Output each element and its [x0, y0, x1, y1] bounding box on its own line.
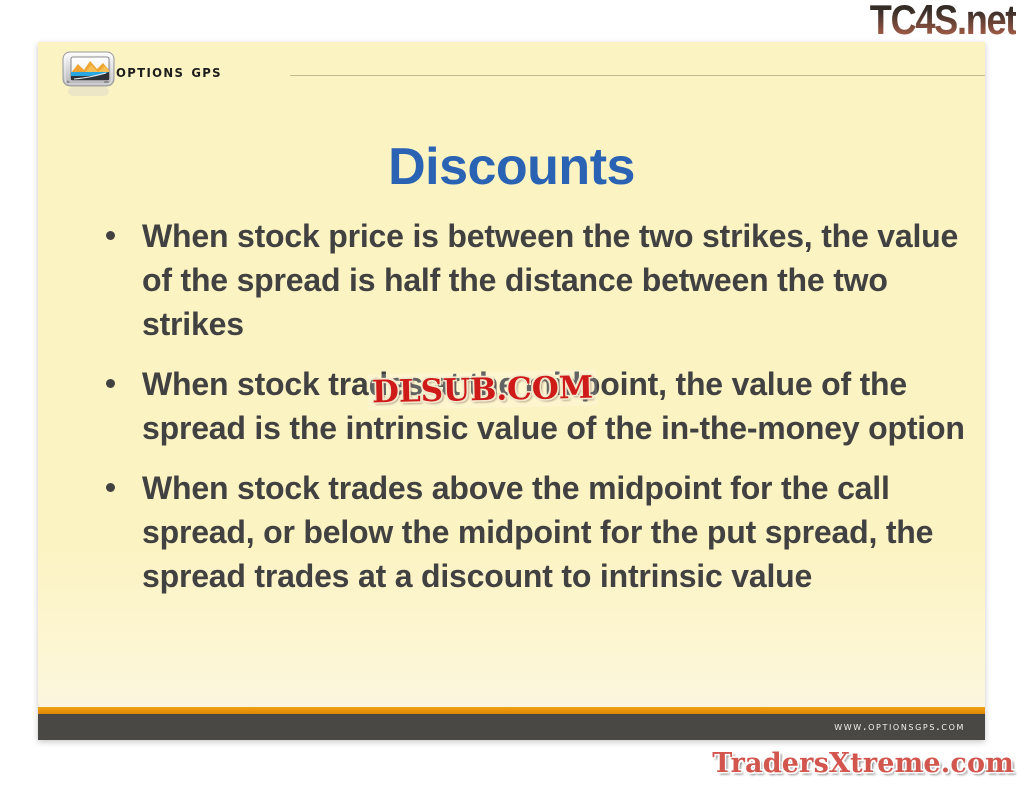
bullet-list: When stock price is between the two stri…	[100, 214, 980, 614]
tc4s-watermark: TC4S.net	[870, 0, 1016, 42]
footer-accent-bar	[38, 707, 985, 714]
list-item-text: When stock trades above the midpoint for…	[142, 466, 980, 598]
list-item: When stock price is between the two stri…	[100, 214, 980, 346]
header-divider	[290, 75, 985, 76]
bullet-dot-icon	[106, 483, 115, 492]
slide-header: Options GPS	[38, 42, 985, 100]
footer-bar: www.OptionsGPS.com	[38, 714, 985, 740]
tradersxtreme-watermark: TradersXtreme.com	[712, 748, 1014, 780]
footer-url-label: www.OptionsGPS.com	[834, 719, 965, 733]
bullet-dot-icon	[106, 379, 115, 388]
list-item: When stock trades above the midpoint for…	[100, 466, 980, 598]
dlsub-watermark: DLSUB.COM	[368, 370, 598, 411]
page-title: Discounts	[38, 137, 985, 197]
gps-device-icon	[60, 48, 120, 100]
brand-label: Options GPS	[116, 62, 222, 82]
list-item-text: When stock price is between the two stri…	[142, 214, 980, 346]
bullet-dot-icon	[106, 231, 115, 240]
